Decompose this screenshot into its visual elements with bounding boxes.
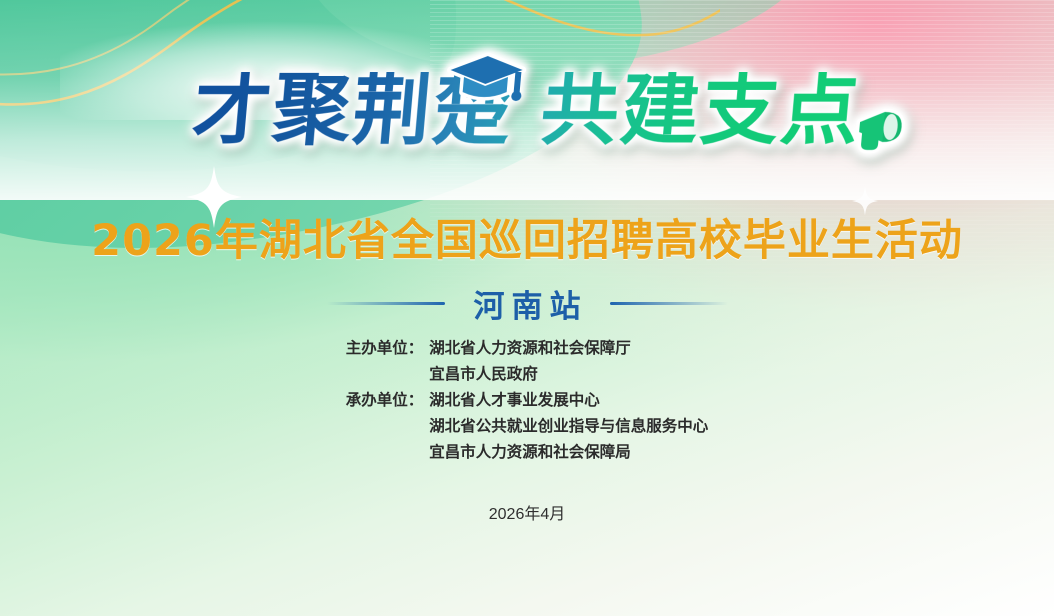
promotional-banner: 才聚荆楚共建支点 xyxy=(0,0,1054,616)
headline-text: 才聚荆楚共建支点 xyxy=(190,72,865,150)
headline-part-2: 共建支点 xyxy=(537,66,865,156)
coorganizer-label-spacer-2 xyxy=(346,440,424,466)
coorganizer-org-1: 湖北省人才事业发展中心 xyxy=(429,388,708,414)
host-label-spacer xyxy=(346,362,424,388)
decorative-rule-left xyxy=(327,302,445,305)
host-label: 主办单位： xyxy=(346,336,424,362)
host-org-1: 湖北省人力资源和社会保障厅 xyxy=(429,336,708,362)
coorganizer-label-spacer-1 xyxy=(346,414,424,440)
megaphone-icon xyxy=(847,98,918,156)
event-date: 2026年4月 xyxy=(0,500,1054,524)
headline-block: 才聚荆楚共建支点 xyxy=(0,72,1054,150)
station-name: 河南站 xyxy=(467,281,588,326)
coorganizer-org-2: 湖北省公共就业创业指导与信息服务中心 xyxy=(429,414,708,440)
station-block: 河南站 xyxy=(0,281,1054,326)
graduation-cap-icon xyxy=(441,48,530,110)
decorative-rule-right xyxy=(610,302,728,305)
event-subtitle: 2026年湖北省全国巡回招聘高校毕业生活动 xyxy=(0,206,1054,268)
coorganizer-label: 承办单位： xyxy=(346,388,424,414)
organizer-credits: 主办单位： 湖北省人力资源和社会保障厅 宜昌市人民政府 承办单位： 湖北省人才事… xyxy=(0,336,1054,466)
coorganizer-org-3: 宜昌市人力资源和社会保障局 xyxy=(429,440,708,466)
host-org-2: 宜昌市人民政府 xyxy=(429,362,708,388)
